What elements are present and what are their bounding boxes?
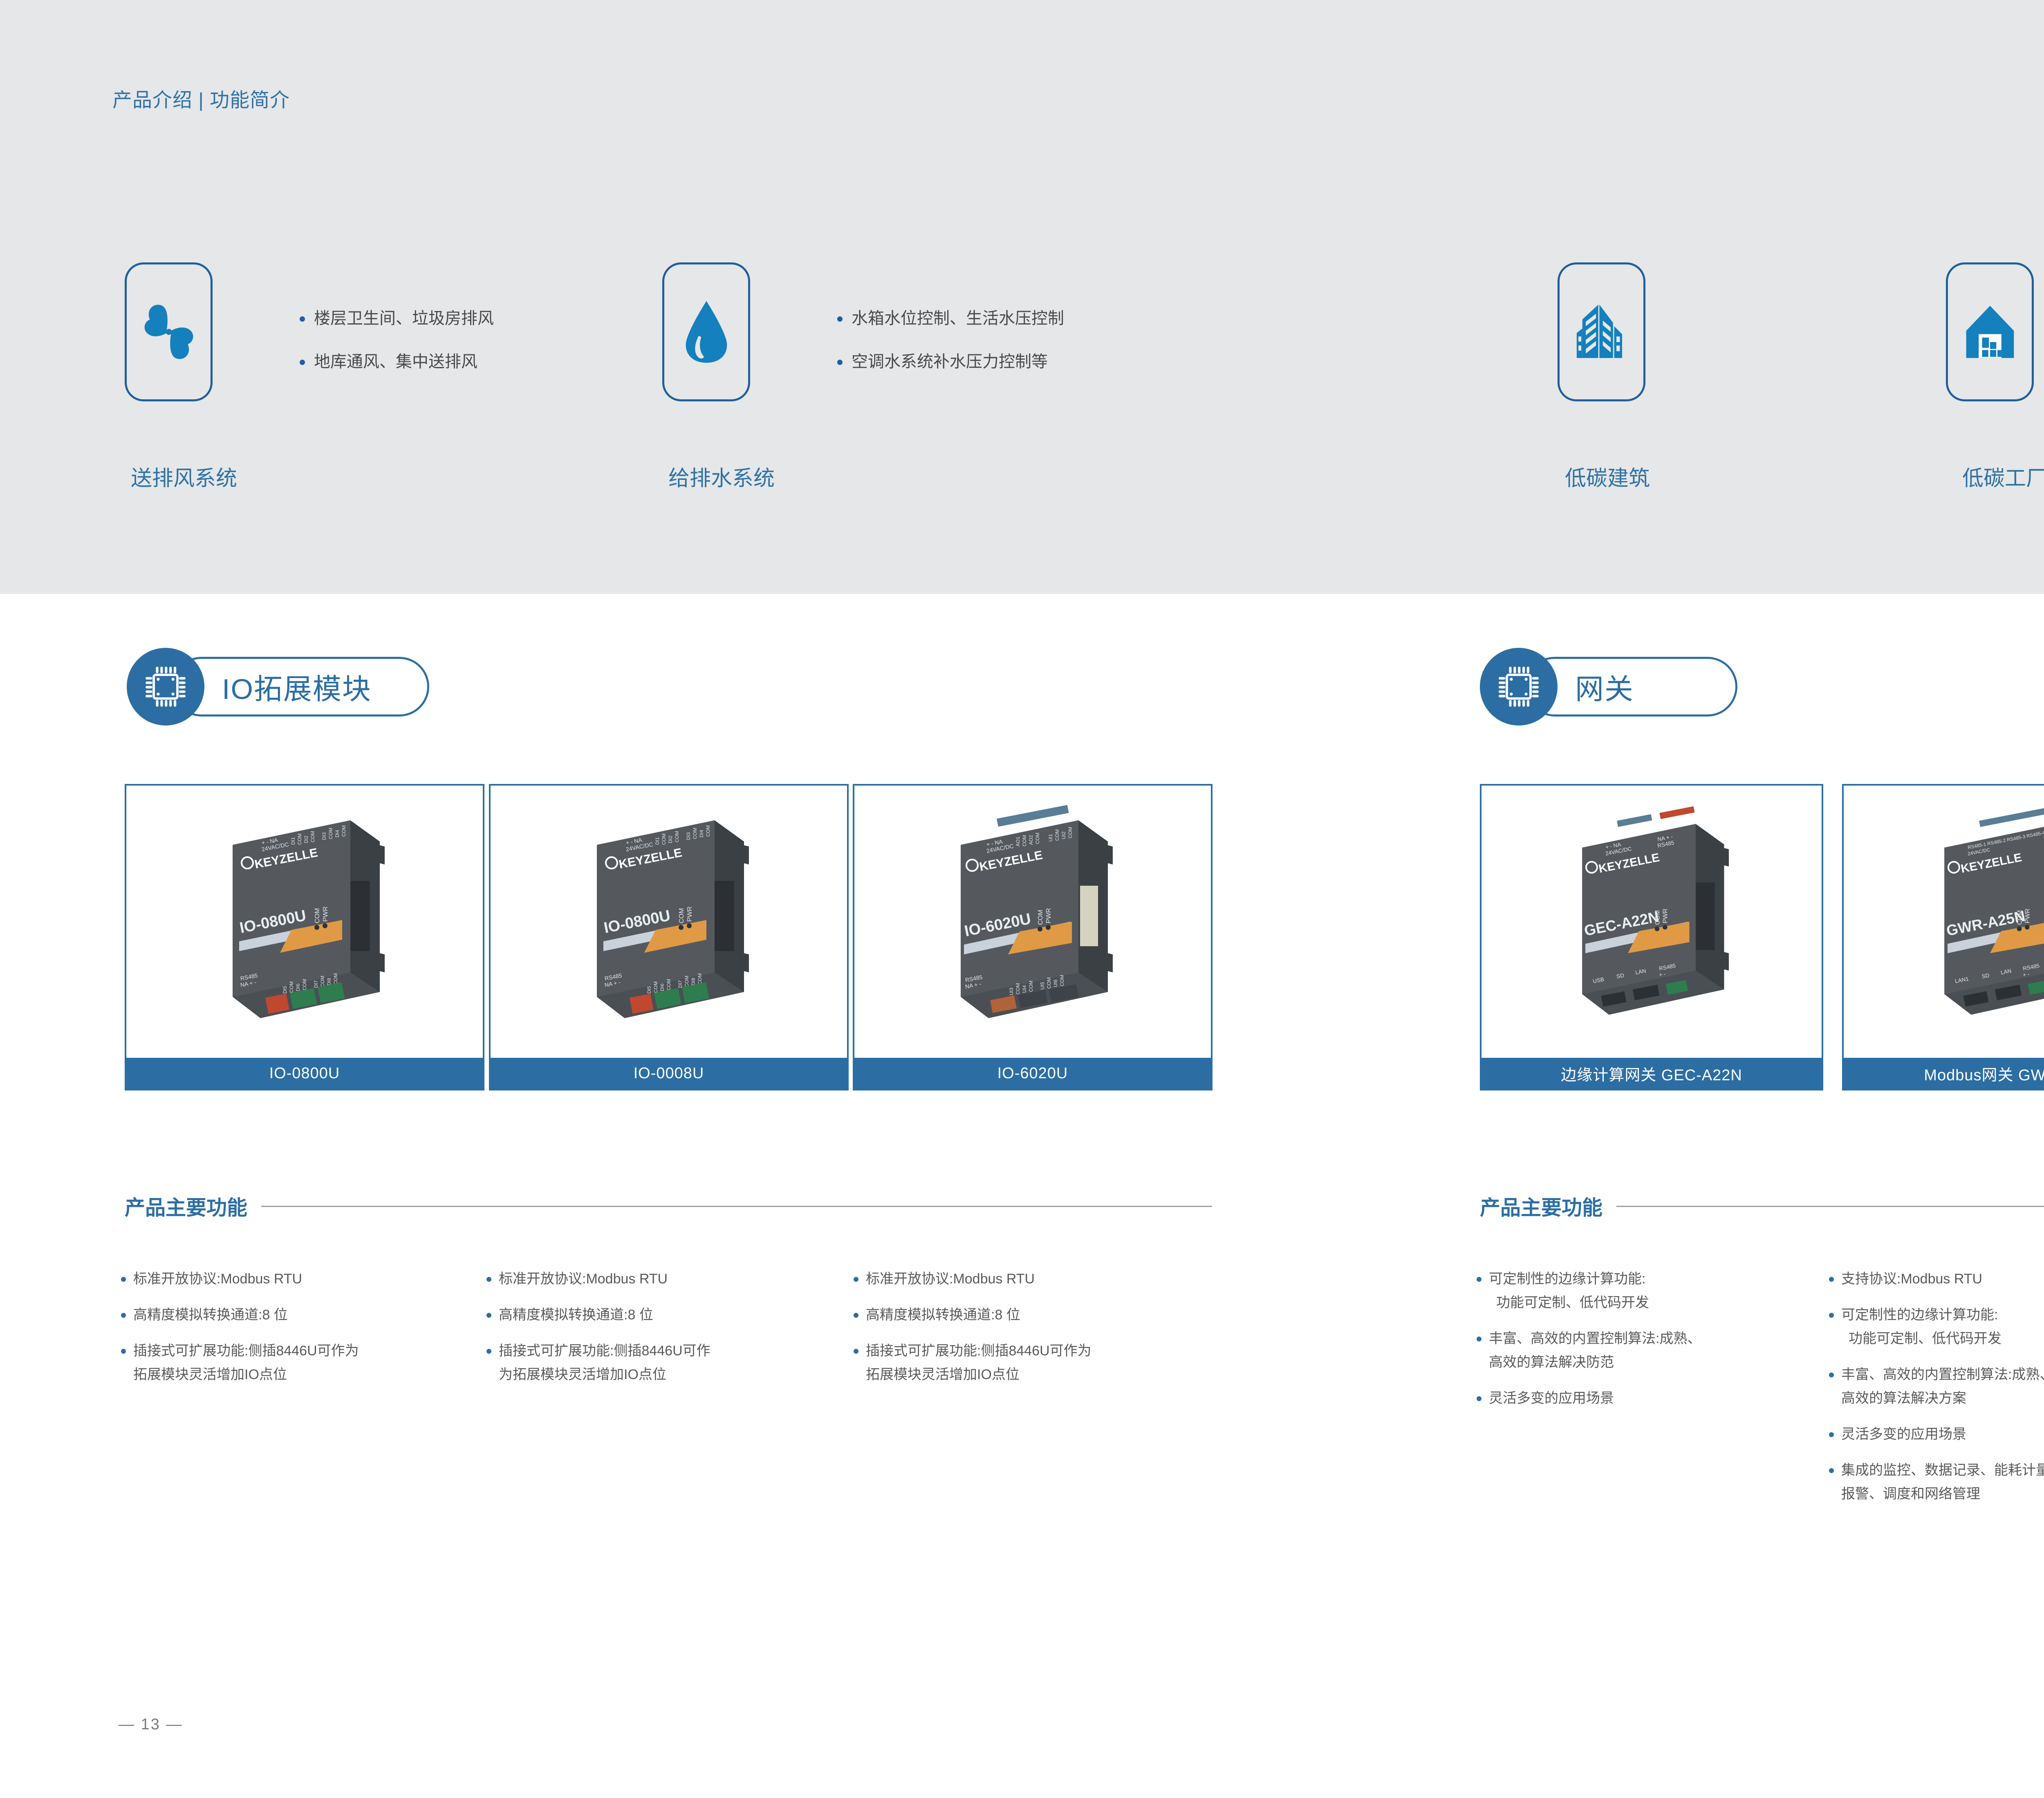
feature-text: 插接式可扩展功能:侧插8446U可作 为拓展模块灵活增加IO点位 [499, 1339, 710, 1386]
svg-text:DI3: DI3 [321, 832, 327, 840]
feature-column: 标准开放协议:Modbus RTU 高精度模拟转换通道:8 位 插接式可扩展功能… [486, 1267, 846, 1399]
product-card[interactable]: GEC-A22N KEYZELLE + - NA 24VAC/DC NA + -… [1480, 784, 1823, 1090]
bullet-dot-icon [486, 1313, 491, 1318]
feature-heading-io: 产品主要功能 [125, 1191, 1212, 1221]
feature-item: 可定制性的边缘计算功能: 功能可定制、低代码开发 [1829, 1303, 2044, 1350]
water-bullet-list: 水箱水位控制、生活水压控制 空调水系统补水压力控制等 [837, 306, 1064, 392]
heading-rule [261, 1206, 1212, 1207]
feature-item: 集成的监控、数据记录、能耗计量、 报警、调度和网络管理 [1829, 1458, 2044, 1506]
feature-item: 可定制性的边缘计算功能: 功能可定制、低代码开发 [1477, 1267, 1828, 1314]
top-grey-band [0, 0, 2044, 594]
bullet-dot-icon [1829, 1373, 1834, 1377]
product-label: IO-0008U [491, 1058, 847, 1089]
low-carbon-factory-caption: 低碳工厂 [1962, 461, 2044, 492]
section-badge-io: IO拓展模块 [127, 648, 429, 725]
svg-text:DI1: DI1 [654, 837, 660, 845]
svg-text:UI3: UI3 [1009, 987, 1014, 995]
svg-text:COM: COM [2016, 910, 2023, 925]
bullet-dot-icon [1829, 1468, 1834, 1473]
feature-item: 插接式可扩展功能:侧插8446U可作 为拓展模块灵活增加IO点位 [486, 1339, 846, 1386]
svg-text:COM: COM [1059, 975, 1065, 986]
feature-line: 高精度模拟转换通道:8 位 [499, 1303, 653, 1327]
bullet-item: 楼层卫生间、垃圾房排风 [300, 306, 494, 331]
water-caption: 给排水系统 [668, 461, 775, 492]
svg-text:COM: COM [320, 976, 325, 987]
svg-text:DI8: DI8 [690, 978, 696, 985]
svg-text:COM: COM [1054, 829, 1060, 841]
office-building-icon [1573, 301, 1630, 363]
svg-text:PWR: PWR [322, 907, 329, 922]
product-card[interactable]: IO-6020U KEYZELLE + - NA 24VAC/DC RS485 … [853, 784, 1213, 1090]
bullet-dot-icon [854, 1349, 858, 1354]
feature-line: 标准开放协议:Modbus RTU [866, 1267, 1035, 1291]
feature-text: 灵活多变的应用场景 [1841, 1422, 1966, 1446]
feature-text: 高精度模拟转换通道:8 位 [866, 1303, 1020, 1327]
running-head-left: 产品介绍 | 功能简介 [112, 84, 290, 112]
svg-text:DI2: DI2 [303, 835, 309, 843]
fan-bullet-list: 楼层卫生间、垃圾房排风 地库通风、集中送排风 [300, 306, 494, 392]
feature-text: 支持协议:Modbus RTU [1841, 1267, 1982, 1291]
svg-text:COM: COM [692, 828, 698, 839]
svg-text:COM: COM [697, 973, 703, 985]
svg-text:COM: COM [705, 825, 711, 837]
product-label: 边缘计算网关 GEC-A22N [1481, 1058, 1822, 1089]
feature-text: 丰富、高效的内置控制算法:成熟、 高效的算法解决方案 [1841, 1363, 2044, 1410]
svg-text:COM: COM [333, 973, 338, 985]
page-number-left: — 13 — [119, 1716, 183, 1733]
feature-line: 拓展模块灵活增加IO点位 [133, 1363, 359, 1386]
feature-line: 插接式可扩展功能:侧插8446U可作为 [133, 1339, 359, 1363]
feature-column: 可定制性的边缘计算功能: 功能可定制、低代码开发 丰富、高效的内置控制算法:成熟… [1477, 1267, 1828, 1422]
svg-text:COM: COM [1022, 835, 1027, 846]
svg-text:DI8: DI8 [326, 978, 332, 985]
chip-icon [1495, 663, 1542, 710]
svg-text:COM: COM [1037, 910, 1044, 925]
svg-text:DI5: DI5 [282, 986, 288, 994]
feature-heading-title: 产品主要功能 [1480, 1191, 1602, 1221]
chip-icon [142, 663, 189, 710]
bullet-item: 水箱水位控制、生活水压控制 [837, 306, 1064, 331]
feature-line: 集成的监控、数据记录、能耗计量、 [1841, 1458, 2044, 1482]
feature-item: 高精度模拟转换通道:8 位 [854, 1303, 1213, 1327]
svg-text:UI5: UI5 [1040, 982, 1045, 990]
feature-heading-title: 产品主要功能 [125, 1191, 247, 1221]
feature-item: 标准开放协议:Modbus RTU [854, 1267, 1213, 1291]
brochure-page: 产品介绍 | 功能简介 产品介绍 | 功能简介 楼层卫生间、垃圾房排风 地库通风… [0, 0, 2044, 1798]
feature-line: 高精度模拟转换通道:8 位 [866, 1303, 1020, 1327]
feature-column: 支持协议:Modbus RTU 可定制性的边缘计算功能: 功能可定制、低代码开发… [1829, 1267, 2044, 1518]
feature-line: 插接式可扩展功能:侧插8446U可作为 [866, 1339, 1091, 1363]
svg-text:AO1: AO1 [1015, 837, 1021, 846]
feature-line: 功能可定制、低代码开发 [1841, 1327, 2001, 1350]
feature-line: 功能可定制、低代码开发 [1489, 1291, 1649, 1314]
bullet-text: 水箱水位控制、生活水压控制 [852, 306, 1064, 331]
feature-line: 高效的算法解决防范 [1489, 1350, 1701, 1374]
bullet-dot-icon [486, 1277, 491, 1282]
svg-text:DI3: DI3 [686, 832, 691, 840]
svg-text:DI4: DI4 [699, 830, 704, 837]
feature-item: 灵活多变的应用场景 [1477, 1386, 1828, 1410]
feature-item: 插接式可扩展功能:侧插8446U可作为 拓展模块灵活增加IO点位 [121, 1339, 481, 1386]
fan-caption: 送排风系统 [131, 461, 237, 492]
feature-line: 为拓展模块灵活增加IO点位 [499, 1363, 710, 1386]
svg-text:UI4: UI4 [1022, 985, 1027, 993]
bullet-dot-icon [121, 1277, 126, 1282]
feature-line: 灵活多变的应用场景 [1489, 1386, 1614, 1410]
badge-circle [127, 648, 204, 725]
feature-item: 支持协议:Modbus RTU [1829, 1267, 2044, 1291]
low-carbon-building-caption: 低碳建筑 [1565, 461, 1650, 492]
svg-text:DI6: DI6 [295, 983, 301, 991]
feature-text: 集成的监控、数据记录、能耗计量、 报警、调度和网络管理 [1841, 1458, 2044, 1506]
svg-text:COM: COM [1035, 833, 1040, 844]
svg-text:PWR: PWR [2024, 909, 2031, 923]
bullet-dot-icon [854, 1313, 858, 1318]
svg-text:DI7: DI7 [677, 980, 683, 988]
water-icon-box [662, 262, 750, 401]
heading-rule [1616, 1206, 2044, 1207]
svg-text:DI7: DI7 [313, 980, 319, 988]
feature-line: 可定制性的边缘计算功能: [1489, 1267, 1649, 1291]
feature-item: 插接式可扩展功能:侧插8446U可作为 拓展模块灵活增加IO点位 [854, 1339, 1213, 1386]
svg-text:+ -: + - [2022, 971, 2030, 978]
svg-text:COM: COM [1046, 977, 1052, 989]
svg-text:DI2: DI2 [668, 835, 673, 843]
feature-text: 高精度模拟转换通道:8 位 [499, 1303, 653, 1327]
svg-text:COM: COM [1015, 983, 1021, 994]
feature-item: 高精度模拟转换通道:8 位 [486, 1303, 846, 1327]
bullet-dot-icon [300, 360, 305, 365]
feature-line: 标准开放协议:Modbus RTU [133, 1267, 302, 1291]
svg-text:COM: COM [1067, 827, 1073, 838]
feature-line: 支持协议:Modbus RTU [1841, 1267, 1982, 1291]
product-label: IO-6020U [854, 1058, 1211, 1089]
feature-text: 标准开放协议:Modbus RTU [866, 1267, 1035, 1291]
water-drop-icon [680, 297, 733, 367]
svg-text:UI6: UI6 [1053, 979, 1058, 987]
svg-text:COM: COM [341, 825, 347, 837]
bullet-dot-icon [1477, 1337, 1481, 1341]
svg-text:DI1: DI1 [290, 837, 296, 845]
feature-item: 标准开放协议:Modbus RTU [121, 1267, 481, 1291]
svg-text:COM: COM [666, 979, 672, 990]
svg-text:UI1: UI1 [1048, 834, 1053, 842]
bullet-dot-icon [1829, 1432, 1834, 1437]
low-carbon-factory-box [1946, 262, 2034, 401]
product-card[interactable]: IO-0800U KEYZELLE + - NA 24VAC/DC RS485 … [125, 784, 484, 1090]
feature-text: 标准开放协议:Modbus RTU [499, 1267, 668, 1291]
svg-text:DI5: DI5 [646, 986, 652, 994]
product-image: GEC-A22N KEYZELLE + - NA 24VAC/DC NA + -… [1481, 786, 1822, 1058]
product-image: IO-6020U KEYZELLE + - NA 24VAC/DC RS485 … [854, 786, 1211, 1058]
fan-icon [138, 299, 199, 365]
feature-column: 标准开放协议:Modbus RTU 高精度模拟转换通道:8 位 插接式可扩展功能… [121, 1267, 481, 1399]
product-card[interactable]: IO-0800U KEYZELLE + - NA 24VAC/DC RS485 … [489, 784, 849, 1090]
feature-heading-gateway: 产品主要功能 [1480, 1191, 2044, 1221]
low-carbon-building-box [1558, 262, 1645, 401]
bullet-item: 空调水系统补水压力控制等 [837, 349, 1064, 374]
product-image: IO-0800U KEYZELLE + - NA 24VAC/DC RS485 … [491, 786, 847, 1058]
svg-text:DI6: DI6 [659, 983, 665, 991]
bullet-item: 地库通风、集中送排风 [300, 349, 494, 374]
feature-item: 丰富、高效的内置控制算法:成熟、 高效的算法解决方案 [1829, 1363, 2044, 1410]
feature-line: 丰富、高效的内置控制算法:成熟、 [1489, 1327, 1701, 1350]
bullet-text: 空调水系统补水压力控制等 [852, 349, 1048, 374]
feature-text: 标准开放协议:Modbus RTU [133, 1267, 302, 1291]
svg-text:COM: COM [674, 831, 680, 842]
feature-line: 丰富、高效的内置控制算法:成熟、 [1841, 1363, 2044, 1386]
svg-text:COM: COM [310, 831, 316, 842]
bullet-dot-icon [854, 1277, 858, 1282]
svg-text:COM: COM [661, 833, 667, 845]
feature-item: 丰富、高效的内置控制算法:成熟、 高效的算法解决防范 [1477, 1327, 1828, 1374]
svg-text:UI2: UI2 [1061, 831, 1067, 839]
bullet-dot-icon [486, 1349, 491, 1354]
feature-text: 可定制性的边缘计算功能: 功能可定制、低代码开发 [1489, 1267, 1649, 1314]
svg-text:COM: COM [297, 833, 303, 845]
feature-line: 拓展模块灵活增加IO点位 [866, 1363, 1091, 1386]
svg-text:COM: COM [302, 979, 307, 990]
feature-item: 灵活多变的应用场景 [1829, 1422, 2044, 1446]
product-card[interactable]: GWR-A25N KEYZELLE RS485-1 RS485-2 RS485-… [1842, 784, 2044, 1090]
feature-text: 灵活多变的应用场景 [1489, 1386, 1614, 1410]
svg-text:COM: COM [314, 908, 321, 923]
feature-line: 报警、调度和网络管理 [1841, 1482, 2044, 1506]
badge-label: IO拓展模块 [222, 666, 372, 708]
bullet-dot-icon [1477, 1277, 1481, 1282]
svg-text:COM: COM [678, 908, 685, 923]
feature-text: 插接式可扩展功能:侧插8446U可作为 拓展模块灵活增加IO点位 [866, 1339, 1091, 1386]
product-image: IO-0800U KEYZELLE + - NA 24VAC/DC RS485 … [126, 786, 483, 1058]
svg-text:COM: COM [328, 828, 334, 839]
feature-line: 插接式可扩展功能:侧插8446U可作 [499, 1339, 710, 1363]
feature-item: 标准开放协议:Modbus RTU [486, 1267, 846, 1291]
feature-line: 可定制性的边缘计算功能: [1841, 1303, 2001, 1327]
bullet-dot-icon [837, 316, 843, 322]
bullet-dot-icon [1829, 1277, 1834, 1282]
feature-text: 可定制性的边缘计算功能: 功能可定制、低代码开发 [1841, 1303, 2001, 1350]
bullet-dot-icon [1829, 1313, 1834, 1318]
feature-line: 标准开放协议:Modbus RTU [499, 1267, 668, 1291]
feature-text: 插接式可扩展功能:侧插8446U可作为 拓展模块灵活增加IO点位 [133, 1339, 359, 1386]
svg-text:COM: COM [1028, 981, 1034, 992]
bullet-dot-icon [121, 1349, 126, 1354]
feature-text: 丰富、高效的内置控制算法:成熟、 高效的算法解决防范 [1489, 1327, 1701, 1374]
bullet-dot-icon [300, 316, 305, 322]
svg-text:DI4: DI4 [334, 830, 340, 837]
svg-text:AO2: AO2 [1028, 835, 1034, 845]
badge-pill: IO拓展模块 [172, 657, 429, 717]
product-label: Modbus网关 GWR-A25N [1844, 1058, 2044, 1089]
svg-text:COM: COM [1654, 910, 1661, 925]
product-label: IO-0800U [126, 1058, 483, 1089]
svg-text:PWR: PWR [1045, 908, 1052, 923]
feature-text: 高精度模拟转换通道:8 位 [133, 1303, 288, 1327]
bullet-dot-icon [121, 1313, 126, 1318]
fan-icon-box [125, 262, 213, 401]
svg-text:PWR: PWR [1662, 909, 1669, 923]
badge-circle [1480, 648, 1558, 725]
svg-text:COM: COM [653, 981, 659, 993]
feature-line: 灵活多变的应用场景 [1841, 1422, 1966, 1446]
bullet-dot-icon [1477, 1396, 1481, 1401]
bullet-dot-icon [837, 360, 843, 365]
svg-text:COM: COM [684, 976, 690, 987]
svg-text:PWR: PWR [686, 907, 693, 922]
factory-icon [1961, 301, 2019, 363]
product-image: GWR-A25N KEYZELLE RS485-1 RS485-2 RS485-… [1844, 786, 2044, 1058]
bullet-text: 地库通风、集中送排风 [314, 349, 477, 374]
feature-column: 标准开放协议:Modbus RTU 高精度模拟转换通道:8 位 插接式可扩展功能… [854, 1267, 1213, 1399]
section-badge-gateway: 网关 [1480, 648, 1733, 725]
feature-item: 高精度模拟转换通道:8 位 [121, 1303, 481, 1327]
svg-text:COM: COM [289, 981, 294, 993]
feature-line: 高效的算法解决方案 [1841, 1386, 2044, 1410]
feature-line: 高精度模拟转换通道:8 位 [133, 1303, 288, 1327]
badge-label: 网关 [1575, 666, 1634, 708]
bullet-text: 楼层卫生间、垃圾房排风 [314, 306, 494, 331]
svg-text:+ -: + - [1659, 971, 1666, 978]
